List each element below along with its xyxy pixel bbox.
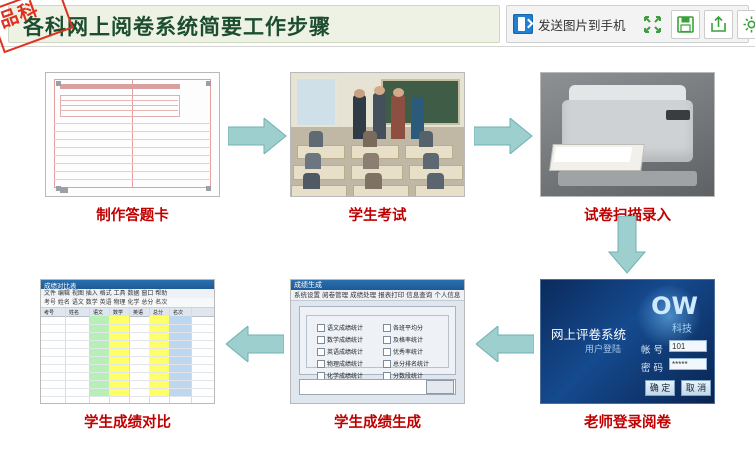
toolbar-icon-group [634, 10, 755, 39]
login-system-label: 网上评卷系统 [551, 324, 626, 343]
login-field1-input[interactable]: 101 [669, 340, 707, 352]
save-button[interactable] [671, 10, 700, 39]
phone-send-icon [513, 14, 533, 34]
arrow-step1-to-step2 [228, 118, 288, 159]
step-4-caption: 老师登录阅卷 [540, 411, 715, 432]
login-system-sub: 用户登陆 [585, 342, 621, 355]
dialog-title: 成绩生成 [294, 280, 322, 290]
dialog-ok-button[interactable] [426, 380, 454, 394]
step-4: OW 科技 网上评卷系统 用户登陆 帐 号 101 密 码 ***** 确 定 … [540, 279, 715, 404]
send-to-phone-label: 发送图片到手机 [538, 15, 626, 34]
arrow-step3-to-step4 [608, 216, 646, 279]
grid-toolbar[interactable]: 考号 姓名 语文 数学 英语 物理 化学 总分 名次 [41, 298, 214, 308]
exam-room-photo[interactable] [290, 72, 465, 197]
answer-sheet-thumbnail[interactable] [45, 72, 220, 197]
login-cancel-button[interactable]: 取 消 [681, 380, 711, 396]
share-button[interactable] [704, 10, 733, 39]
settings-button[interactable] [737, 10, 755, 39]
login-brand-sub: 科技 [672, 320, 692, 335]
step-5: 成绩生成 系统设置 阅卷管理 成绩处理 报表打印 信息查询 个人信息 语文成绩统… [290, 279, 465, 404]
toolbar: 发送图片到手机 [506, 5, 749, 43]
step-2-caption: 学生考试 [290, 204, 465, 225]
step-1-caption: 制作答题卡 [45, 204, 220, 225]
workflow-diagram: 制作答题卡 [0, 46, 755, 458]
title-bar: 各科网上阅卷系统简要工作步骤 [8, 5, 500, 43]
page-header: 各科网上阅卷系统简要工作步骤 发送图片到手机 [0, 0, 755, 47]
arrow-step4-to-step5 [476, 326, 534, 367]
step-1: 制作答题卡 [45, 72, 220, 197]
page-title: 各科网上阅卷系统简要工作步骤 [23, 11, 331, 41]
arrow-step2-to-step3 [474, 118, 534, 159]
scanner-photo[interactable] [540, 72, 715, 197]
login-field1-label: 帐 号 [641, 342, 663, 356]
login-field2-label: 密 码 [641, 360, 663, 374]
step-2: 学生考试 [290, 72, 465, 197]
login-field2-input[interactable]: ***** [669, 358, 707, 370]
fullscreen-button[interactable] [638, 10, 667, 39]
login-ok-button[interactable]: 确 定 [645, 380, 675, 396]
login-brand: OW [651, 292, 698, 320]
dialog-menubar[interactable]: 系统设置 阅卷管理 成绩处理 报表打印 信息查询 个人信息 [291, 290, 464, 301]
score-generation-dialog-screenshot[interactable]: 成绩生成 系统设置 阅卷管理 成绩处理 报表打印 信息查询 个人信息 语文成绩统… [290, 279, 465, 404]
send-to-phone-button[interactable]: 发送图片到手机 [513, 14, 626, 34]
step-6: 成绩对比表 文件 编辑 视图 插入 格式 工具 数据 窗口 帮助 考号 姓名 语… [40, 279, 215, 404]
arrow-step5-to-step6 [226, 326, 284, 367]
step-3: 试卷扫描录入 [540, 72, 715, 197]
step-6-caption: 学生成绩对比 [40, 411, 215, 432]
login-screen-screenshot[interactable]: OW 科技 网上评卷系统 用户登陆 帐 号 101 密 码 ***** 确 定 … [540, 279, 715, 404]
score-comparison-table-screenshot[interactable]: 成绩对比表 文件 编辑 视图 插入 格式 工具 数据 窗口 帮助 考号 姓名 语… [40, 279, 215, 404]
step-5-caption: 学生成绩生成 [290, 411, 465, 432]
